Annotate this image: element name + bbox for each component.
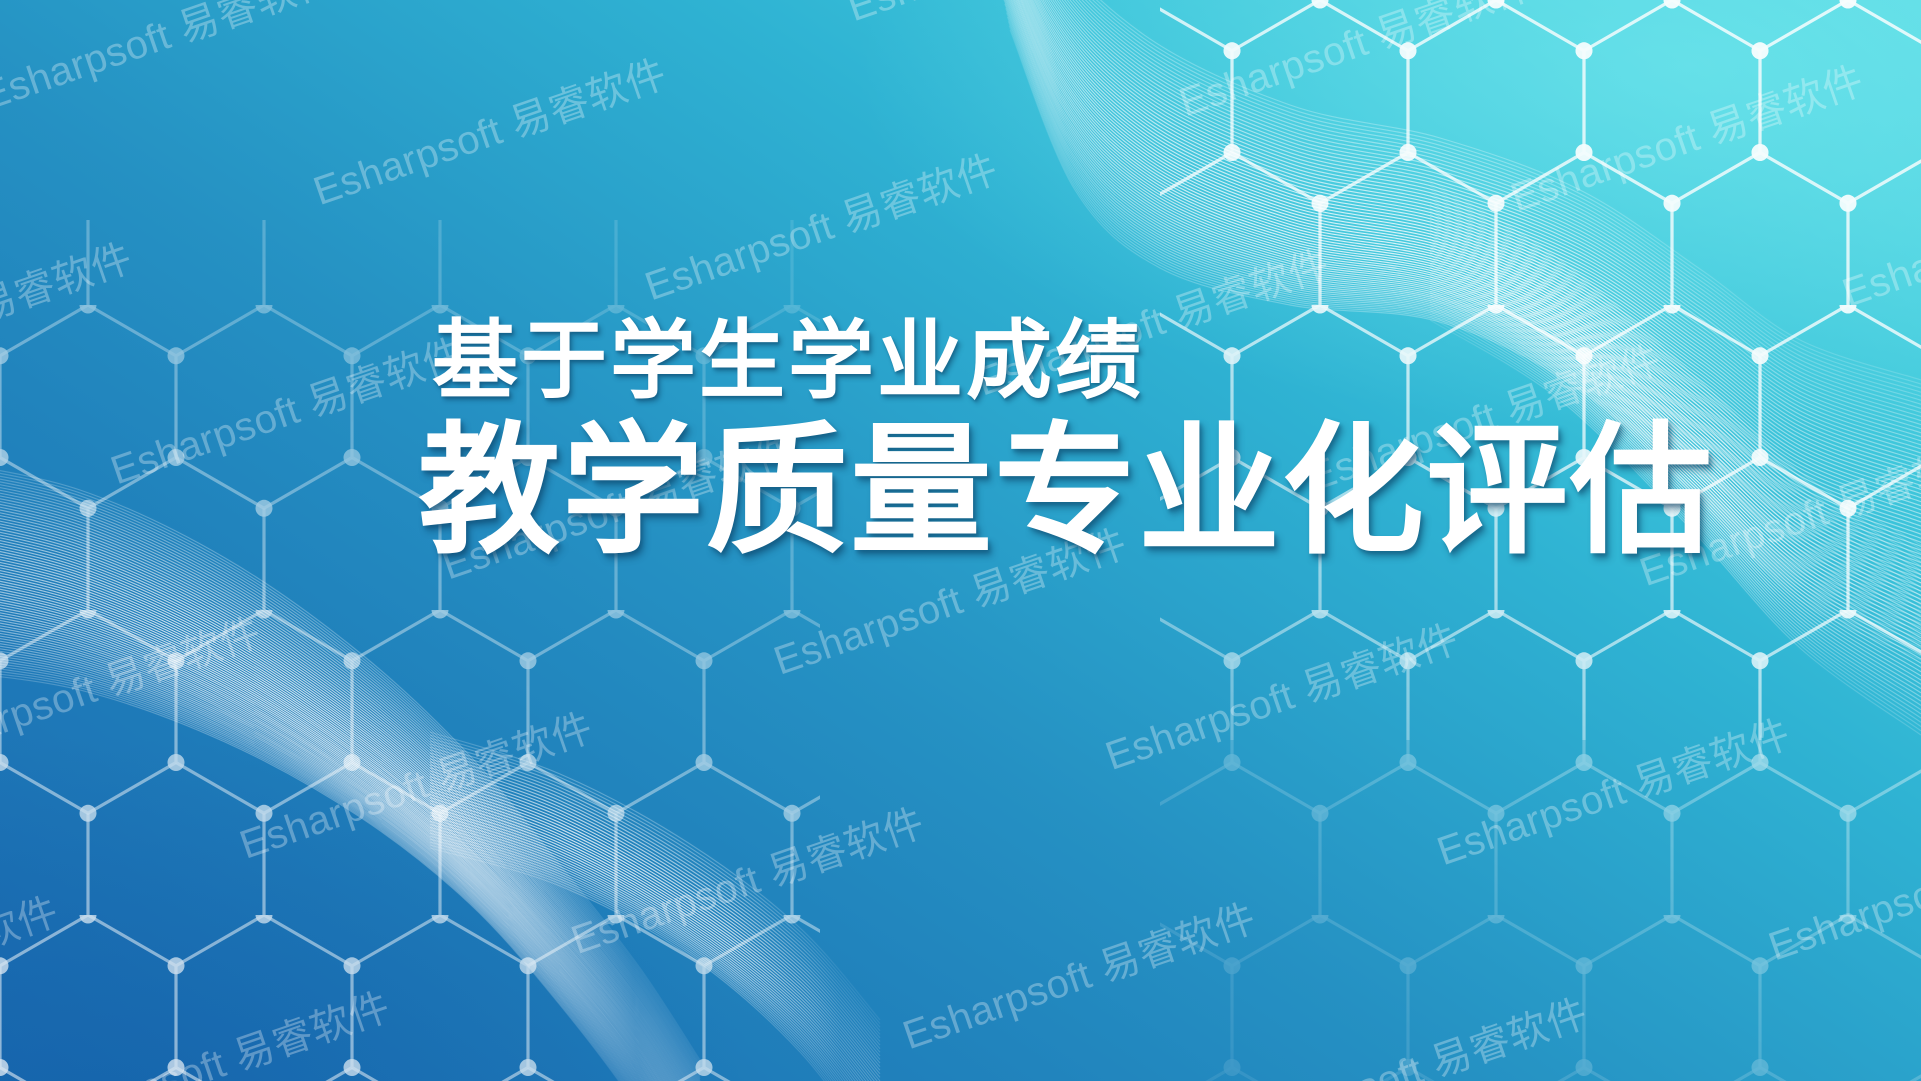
slide-title-line-1: 基于学生学业成绩 <box>432 316 1758 407</box>
slide-title-line-2: 教学质量专业化评估 <box>418 421 1758 563</box>
slide-title-block: 基于学生学业成绩 教学质量专业化评估 <box>418 316 1758 563</box>
presentation-slide: Esharpsoft 易睿软件Esharpsoft 易睿软件Esharpsoft… <box>0 0 1921 1081</box>
